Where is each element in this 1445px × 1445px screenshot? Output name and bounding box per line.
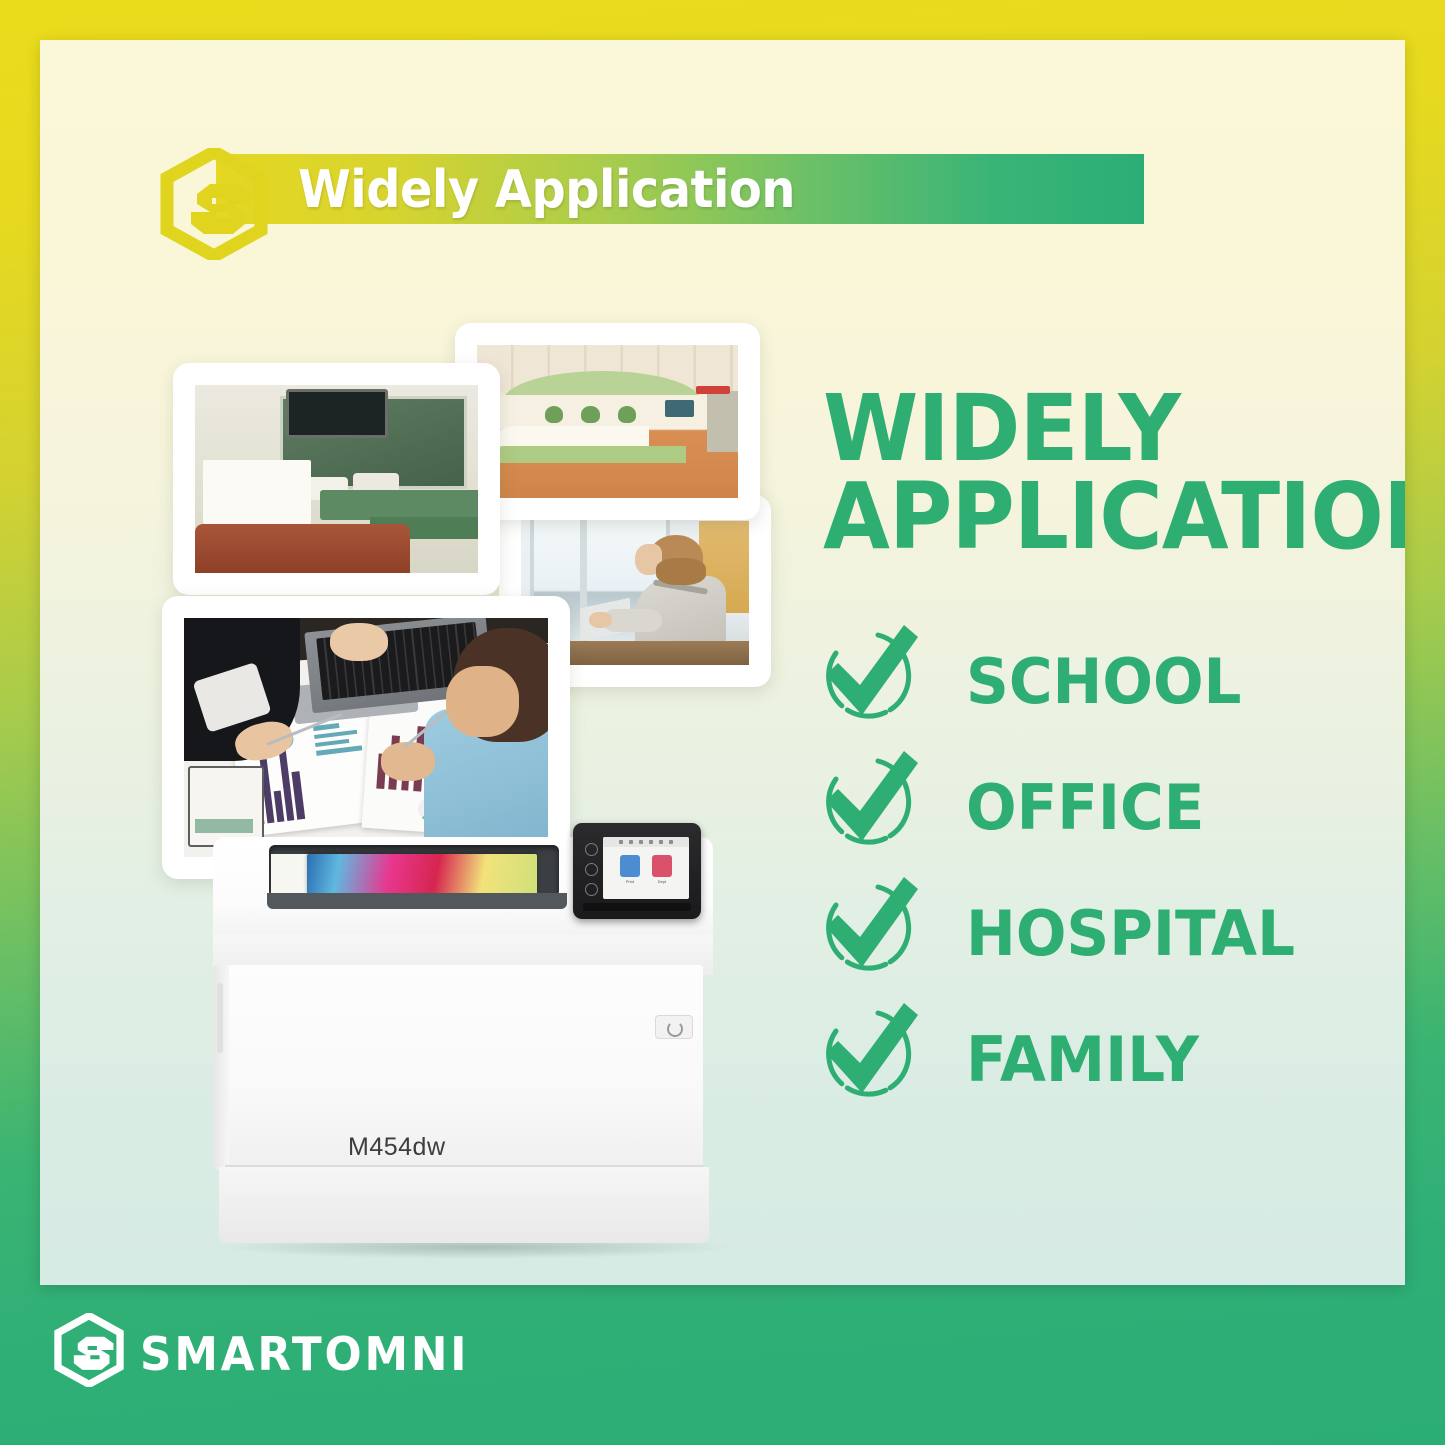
photo-classroom bbox=[173, 363, 500, 595]
printer-status-bar bbox=[603, 837, 689, 847]
printer-paper-edge bbox=[271, 854, 311, 896]
printer-app-print-icon[interactable] bbox=[620, 855, 640, 877]
printer-touchscreen[interactable]: Print Dept bbox=[603, 837, 689, 899]
checklist-item-hospital: HOSPITAL bbox=[818, 875, 1405, 1001]
help-icon[interactable] bbox=[585, 883, 598, 896]
footer-bar: SMARTOMNI bbox=[0, 1285, 1445, 1445]
hexagon-s-logo-icon bbox=[52, 1313, 126, 1387]
page-title: WIDELY APPLICATION bbox=[823, 385, 1368, 562]
checklist-item-office: OFFICE bbox=[818, 749, 1405, 875]
ribbon-title: Widely Application bbox=[298, 160, 795, 220]
printer-paper-cassette bbox=[219, 1167, 709, 1243]
check-stamp-icon bbox=[818, 749, 926, 857]
checklist-label: OFFICE bbox=[966, 771, 1204, 844]
hexagon-s-logo-icon bbox=[158, 148, 270, 260]
printer-vent bbox=[217, 983, 223, 1053]
poster-canvas: Widely Application bbox=[0, 0, 1445, 1445]
checklist-label: HOSPITAL bbox=[966, 897, 1295, 970]
check-stamp-icon bbox=[818, 1001, 926, 1109]
printer-printed-page bbox=[307, 854, 537, 896]
printer-app-scan-label: Dept bbox=[649, 879, 675, 884]
check-stamp-icon bbox=[818, 623, 926, 731]
back-arrow-icon[interactable] bbox=[585, 843, 598, 856]
inner-panel: Widely Application bbox=[40, 40, 1405, 1285]
checklist-item-school: SCHOOL bbox=[818, 623, 1405, 749]
check-stamp-icon bbox=[818, 875, 926, 983]
printer-tray-lid bbox=[267, 893, 567, 909]
printer-body bbox=[225, 965, 703, 1175]
photo-classroom-image bbox=[195, 385, 478, 573]
page-title-line2: APPLICATION bbox=[823, 473, 1368, 561]
checklist-item-family: FAMILY bbox=[818, 1001, 1405, 1127]
photo-hospital bbox=[455, 323, 760, 520]
printer-panel-base bbox=[583, 903, 691, 911]
printer-output-tray bbox=[269, 845, 559, 897]
photo-hospital-image bbox=[477, 345, 738, 498]
checklist-label: SCHOOL bbox=[966, 645, 1241, 718]
printer-app-print-label: Print bbox=[617, 879, 643, 884]
application-checklist: SCHOOL OFFICE HOSPITAL bbox=[818, 623, 1405, 1127]
home-icon[interactable] bbox=[585, 863, 598, 876]
printer-app-scan-icon[interactable] bbox=[652, 855, 672, 877]
footer-brand-name: SMARTOMNI bbox=[140, 1327, 469, 1381]
checklist-label: FAMILY bbox=[966, 1023, 1199, 1096]
printer-power-button[interactable] bbox=[655, 1015, 693, 1039]
printer-model-label: M454dw bbox=[348, 1133, 446, 1162]
printer-product-image: Print Dept M454dw bbox=[203, 815, 763, 1265]
printer-control-panel[interactable]: Print Dept bbox=[573, 823, 701, 919]
